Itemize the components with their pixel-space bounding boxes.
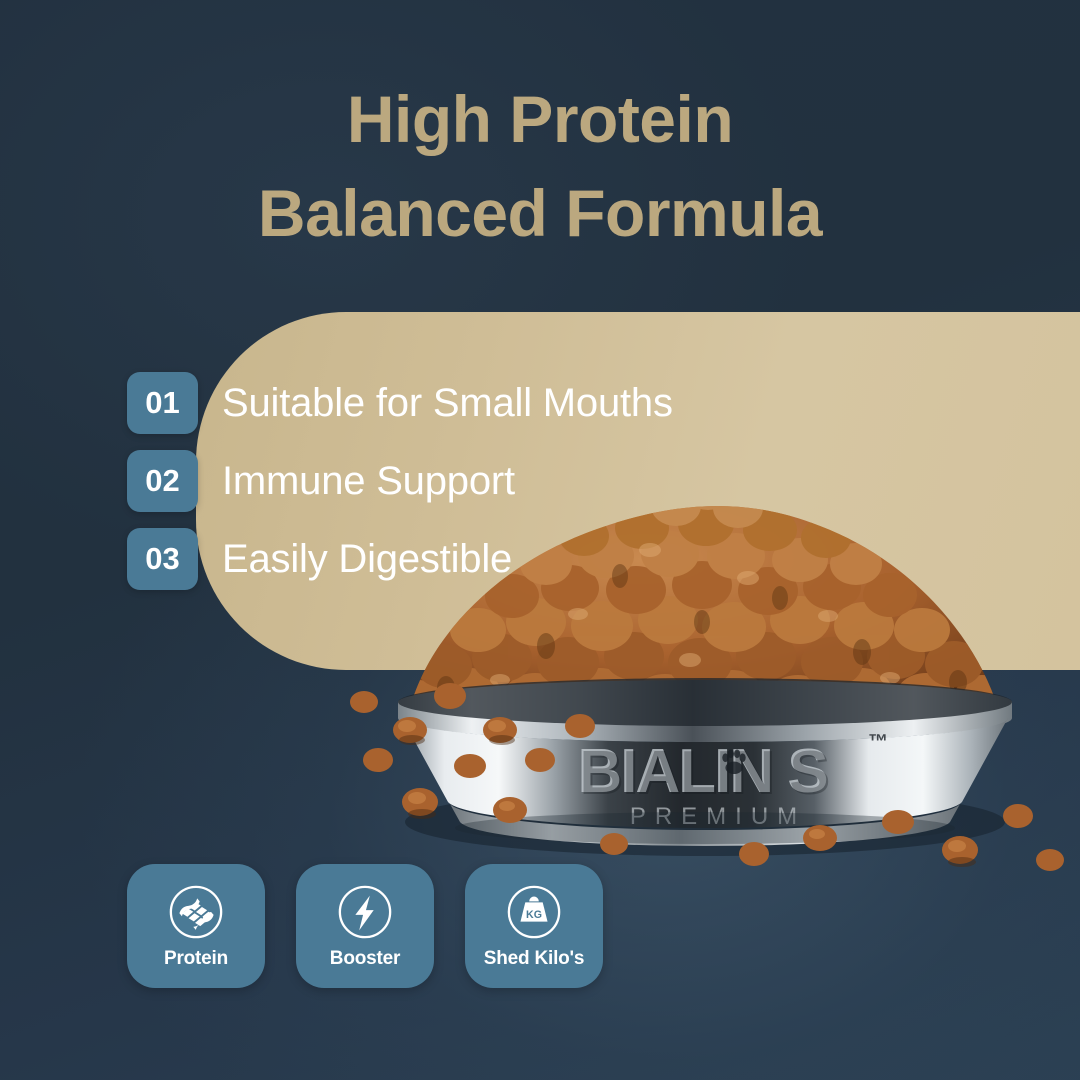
kg-weight-icon: KG bbox=[505, 883, 563, 941]
benefit-card-row: Protein Booster KG Shed Kilo's bbox=[127, 864, 603, 988]
feature-number-badge-1: 01 bbox=[127, 372, 198, 434]
benefit-card-label-shed-kilos: Shed Kilo's bbox=[484, 948, 585, 970]
feature-label-3: Easily Digestible bbox=[222, 538, 512, 580]
feature-label-2: Immune Support bbox=[222, 460, 515, 502]
benefit-card-booster[interactable]: Booster bbox=[296, 864, 434, 988]
protein-helix-icon bbox=[167, 883, 225, 941]
lightning-bolt-icon bbox=[336, 883, 394, 941]
feature-row-1[interactable]: 01 Suitable for Small Mouths bbox=[127, 372, 887, 434]
headline-line-2: Balanced Formula bbox=[0, 166, 1080, 260]
promo-canvas: High Protein Balanced Formula bbox=[0, 0, 1080, 1080]
benefit-card-label-booster: Booster bbox=[330, 948, 400, 970]
page-title: High Protein Balanced Formula bbox=[0, 72, 1080, 261]
feature-list: 01 Suitable for Small Mouths 02 Immune S… bbox=[127, 372, 887, 590]
headline-line-1: High Protein bbox=[0, 72, 1080, 166]
kg-weight-label: KG bbox=[526, 908, 542, 920]
svg-text:™: ™ bbox=[868, 731, 888, 753]
benefit-card-shed-kilos[interactable]: KG Shed Kilo's bbox=[465, 864, 603, 988]
feature-number-badge-3: 03 bbox=[127, 528, 198, 590]
svg-text:BIALIN S: BIALIN S bbox=[579, 739, 828, 808]
feature-row-3[interactable]: 03 Easily Digestible bbox=[127, 528, 887, 590]
feature-number-badge-2: 02 bbox=[127, 450, 198, 512]
benefit-card-protein[interactable]: Protein bbox=[127, 864, 265, 988]
benefit-card-label-protein: Protein bbox=[164, 948, 228, 970]
feature-label-1: Suitable for Small Mouths bbox=[222, 382, 673, 424]
feature-row-2[interactable]: 02 Immune Support bbox=[127, 450, 887, 512]
